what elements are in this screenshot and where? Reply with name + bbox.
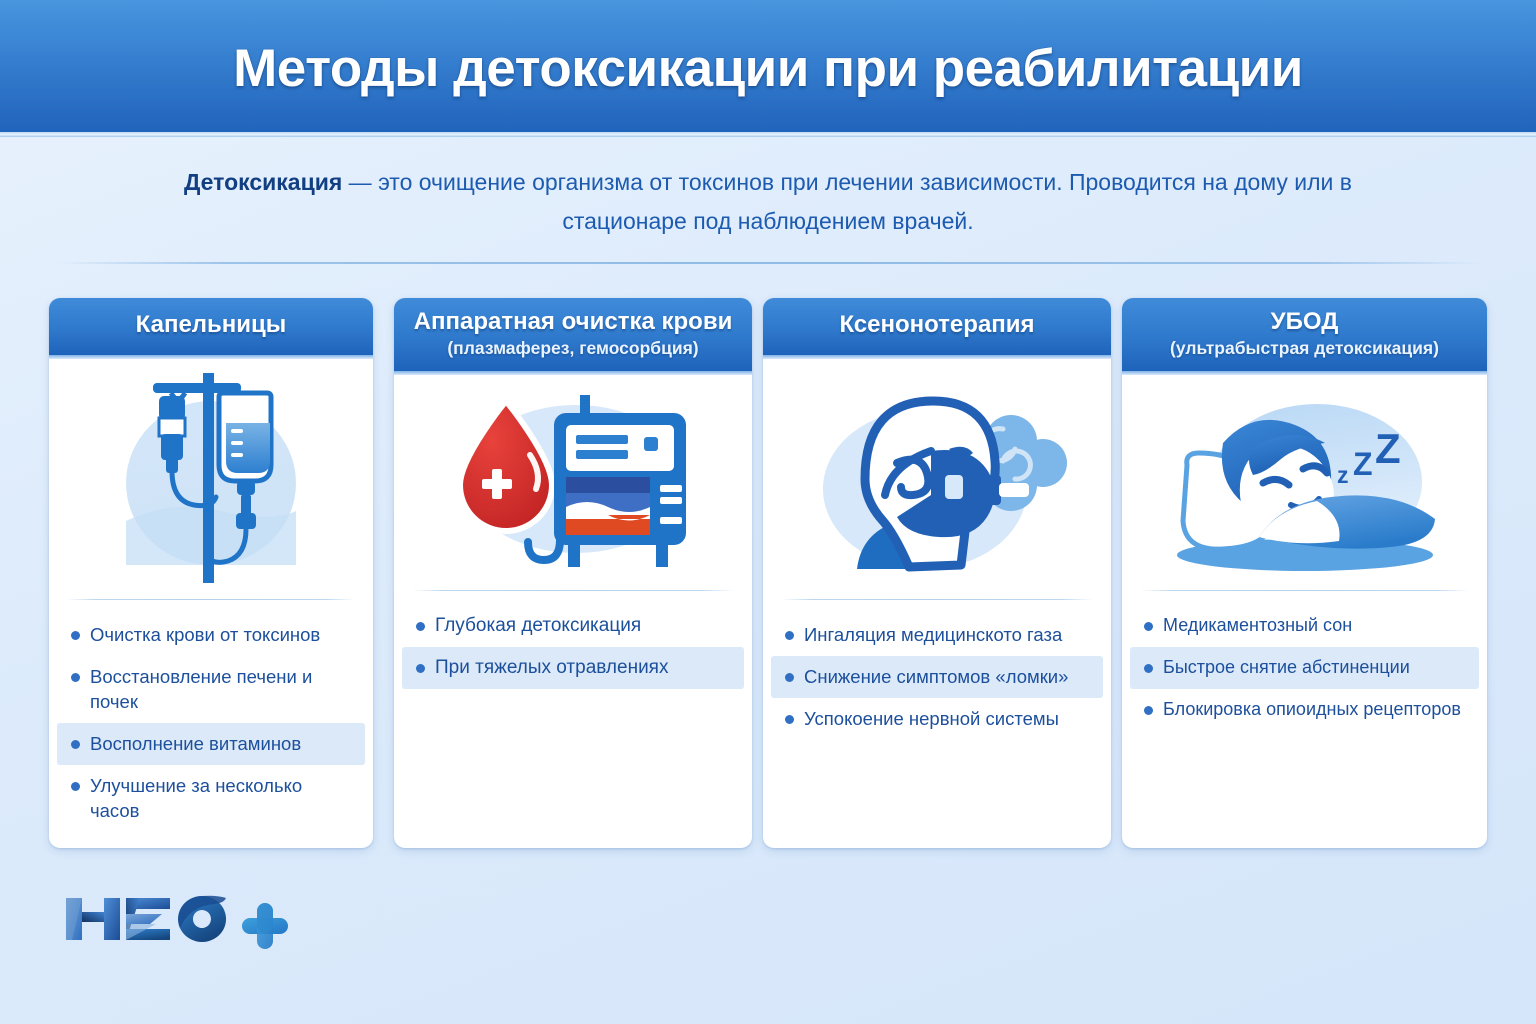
bullet-text: Успокоение нервной системы [804, 706, 1059, 731]
method-card-kapelnicy[interactable]: Капельницы [49, 298, 373, 848]
card-title: Аппаратная очистка крови [404, 309, 742, 336]
list-item: Снижение симптомов «ломки» [771, 656, 1103, 698]
intro-lead-term: Детоксикация [184, 169, 342, 195]
card-header: Аппаратная очистка крови (плазмаферез, г… [394, 298, 752, 375]
bullet-text: Блокировка опиоидных рецепторов [1163, 697, 1461, 722]
intro-paragraph: Детоксикация — это очищение организма от… [128, 163, 1408, 241]
bullet-text: Очистка крови от токсинов [90, 622, 320, 647]
list-item: Медикаментозный сон [1130, 605, 1479, 647]
card-title: Капельницы [59, 312, 363, 339]
method-card-ksenonoterapiya[interactable]: Ксенонотерапия [763, 298, 1111, 848]
sleeping-person-icon: z Z Z [1167, 387, 1442, 577]
bullet-dot-icon [416, 622, 425, 631]
card-bullet-list: Глубокая детоксикация При тяжелых отравл… [394, 591, 752, 848]
bullet-dot-icon [71, 631, 80, 640]
list-item: Быстрое снятие абстиненции [1130, 647, 1479, 689]
infographic-page: Методы детоксикации при реабилитации Дет… [0, 0, 1536, 1024]
bullet-text: Медикаментозный сон [1163, 613, 1352, 638]
list-item: Очистка крови от токсинов [57, 614, 365, 656]
list-item: Восстановление печени и почек [57, 656, 365, 723]
list-item: Восполнение витаминов [57, 723, 365, 765]
svg-text:Z: Z [1375, 425, 1401, 472]
intro-rest-text: — это очищение организма от токсинов при… [342, 169, 1352, 234]
card-illustration [763, 359, 1111, 599]
header-banner: Методы детоксикации при реабилитации [0, 0, 1536, 137]
card-subtitle: (ультрабыстрая детоксикация) [1132, 338, 1477, 359]
card-header: Ксенонотерапия [763, 298, 1111, 359]
list-item: Ингаляция медицинското газа [771, 614, 1103, 656]
bullet-text: Глубокая детоксикация [435, 613, 641, 638]
neo-plus-logo-icon [60, 888, 290, 950]
card-bullet-list: Ингаляция медицинското газа Снижение сим… [763, 600, 1111, 848]
card-header: Капельницы [49, 298, 373, 359]
bullet-text: Быстрое снятие абстиненции [1163, 655, 1410, 680]
card-title: УБОД [1132, 309, 1477, 336]
card-title: Ксенонотерапия [773, 312, 1101, 339]
bullet-dot-icon [785, 673, 794, 682]
svg-text:z: z [1337, 462, 1349, 488]
list-item: Успокоение нервной системы [771, 698, 1103, 740]
bullet-dot-icon [1144, 622, 1153, 631]
bullet-dot-icon [785, 715, 794, 724]
bullet-dot-icon [71, 673, 80, 682]
svg-text:Z: Z [1353, 446, 1373, 482]
card-illustration: z Z Z [1122, 375, 1487, 590]
card-bullet-list: Медикаментозный сон Быстрое снятие абсти… [1122, 591, 1487, 848]
bullet-dot-icon [1144, 664, 1153, 673]
card-bullet-list: Очистка крови от токсинов Восстановление… [49, 600, 373, 848]
method-card-apparatnaya-ochistka[interactable]: Аппаратная очистка крови (плазмаферез, г… [394, 298, 752, 848]
method-cards-row: Капельницы [0, 298, 1536, 850]
bullet-dot-icon [71, 740, 80, 749]
card-header: УБОД (ультрабыстрая детоксикация) [1122, 298, 1487, 375]
blood-purification-icon [448, 387, 698, 577]
list-item: Улучшение за несколько часов [57, 765, 365, 832]
list-item: Глубокая детоксикация [402, 605, 744, 647]
bullet-dot-icon [785, 631, 794, 640]
method-card-ubod[interactable]: УБОД (ультрабыстрая детоксикация) [1122, 298, 1487, 848]
neo-plus-logo [60, 888, 290, 950]
bullet-dot-icon [71, 782, 80, 791]
iv-drip-icon [111, 371, 311, 586]
bullet-dot-icon [416, 664, 425, 673]
card-illustration [394, 375, 752, 590]
list-item: При тяжелых отравлениях [402, 647, 744, 689]
bullet-text: При тяжелых отравлениях [435, 655, 668, 680]
bullet-text: Снижение симптомов «ломки» [804, 664, 1068, 689]
card-subtitle: (плазмаферез, гемосорбция) [404, 338, 742, 359]
bullet-text: Восполнение витаминов [90, 731, 301, 756]
page-title: Методы детоксикации при реабилитации [0, 38, 1536, 99]
bullet-text: Ингаляция медицинското газа [804, 622, 1062, 647]
list-item: Блокировка опиоидных рецепторов [1130, 689, 1479, 731]
bullet-dot-icon [1144, 706, 1153, 715]
inhalation-mask-icon [805, 379, 1070, 579]
section-divider [57, 262, 1479, 264]
bullet-text: Восстановление печени и почек [90, 664, 353, 714]
bullet-text: Улучшение за несколько часов [90, 773, 353, 823]
card-illustration [49, 359, 373, 599]
